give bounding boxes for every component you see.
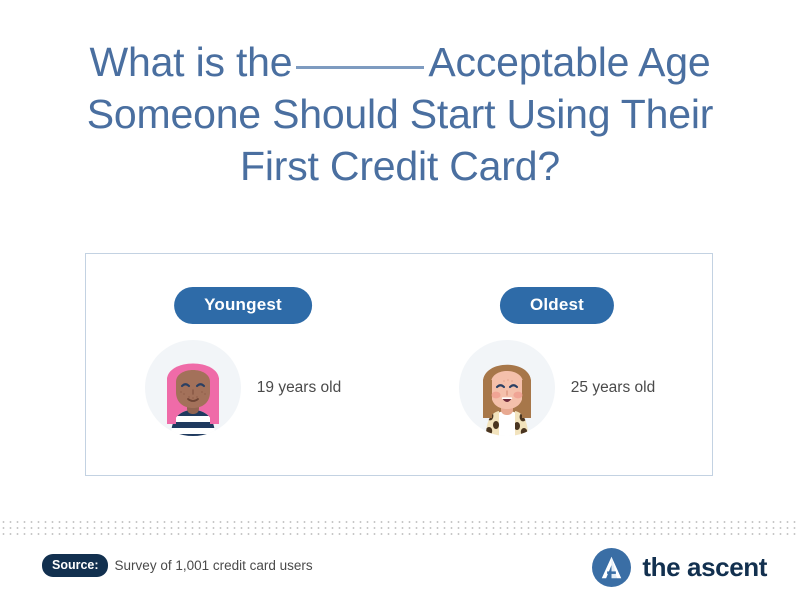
- avatar-brown-hair-woman: [459, 340, 555, 436]
- title-text-after-blank: Acceptable Age: [428, 39, 710, 85]
- column-oldest: Oldest: [400, 254, 714, 475]
- title-line-2: Someone Should Start Using Their: [0, 88, 800, 140]
- person-row-oldest: 25 years old: [400, 340, 714, 436]
- comparison-panel: Youngest: [85, 253, 713, 476]
- infographic-root: { "title": { "line1_before": "What is th…: [0, 0, 800, 599]
- title-line-3: First Credit Card?: [0, 140, 800, 192]
- source-tag: Source:: [42, 554, 108, 577]
- title-blank-underline: [296, 66, 424, 69]
- source-text: Survey of 1,001 credit card users: [115, 558, 313, 573]
- logo-wordmark: the ascent: [642, 552, 767, 583]
- footer: Source: Survey of 1,001 credit card user…: [0, 548, 800, 588]
- age-label-youngest: 19 years old: [257, 379, 341, 397]
- column-youngest: Youngest: [86, 254, 400, 475]
- page-title: What is theAcceptable Age Someone Should…: [0, 36, 800, 192]
- age-label-oldest: 25 years old: [571, 379, 655, 397]
- person-row-youngest: 19 years old: [86, 340, 400, 436]
- title-line-1: What is theAcceptable Age: [0, 36, 800, 88]
- badge-oldest: Oldest: [500, 287, 614, 324]
- ascent-logo-icon: [592, 548, 631, 587]
- source-block: Source: Survey of 1,001 credit card user…: [42, 554, 313, 577]
- badge-youngest: Youngest: [174, 287, 312, 324]
- title-text-before-blank: What is the: [89, 39, 292, 85]
- dotted-divider: [0, 519, 800, 536]
- avatar-pink-hair-woman: [145, 340, 241, 436]
- brand-logo[interactable]: the ascent: [592, 548, 767, 587]
